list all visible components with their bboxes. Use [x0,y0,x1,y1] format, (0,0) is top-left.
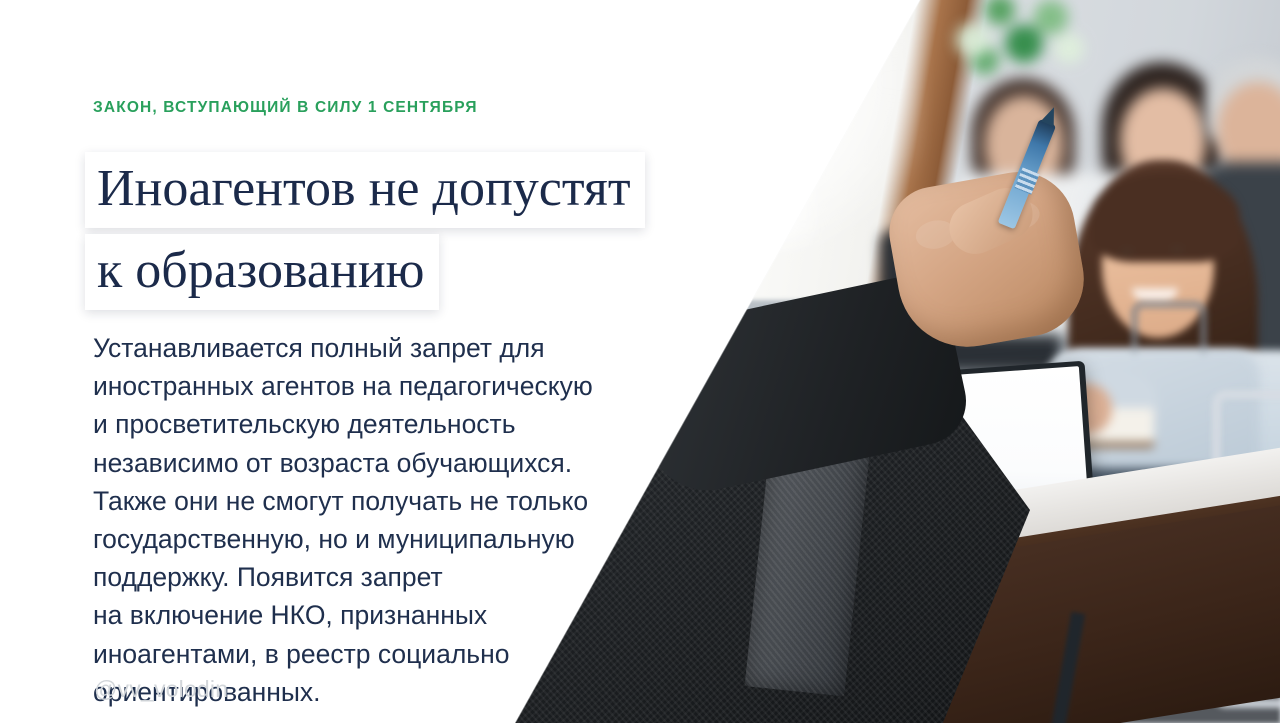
page-title: Иноагентов не допустят к образованию [85,152,645,310]
eyebrow-label: ЗАКОН, ВСТУПАЮЩИЙ В СИЛУ 1 СЕНТЯБРЯ [93,99,478,117]
account-handle: @vv_volodin [94,676,228,703]
text-column: ЗАКОН, ВСТУПАЮЩИЙ В СИЛУ 1 СЕНТЯБРЯ Иноа… [0,0,820,723]
body-paragraph: Устанавливается полный запрет для иностр… [93,329,693,711]
poster-canvas: ЗАКОН, ВСТУПАЮЩИЙ В СИЛУ 1 СЕНТЯБРЯ Иноа… [0,0,1280,723]
headline-line-1: Иноагентов не допустят [85,152,645,228]
headline-line-2: к образованию [85,234,439,310]
woman-eye-right [1170,246,1184,253]
woman-hair-front [1090,172,1240,262]
woman-eye-left [1120,248,1134,255]
